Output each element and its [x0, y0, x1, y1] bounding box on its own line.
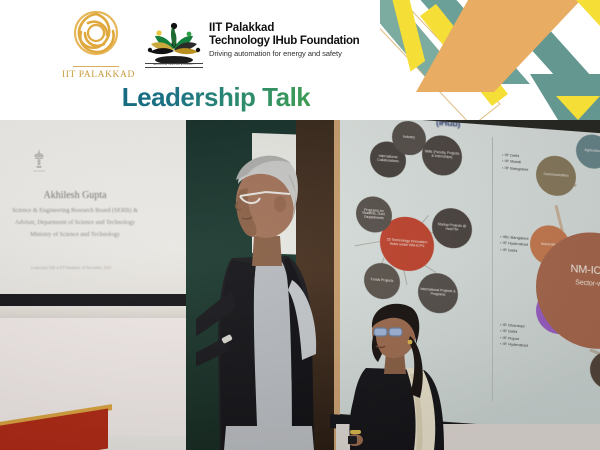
sector-node-agriculture: Agriculture	[576, 133, 600, 169]
slide-vertical-divider	[492, 137, 493, 401]
sector-node-communication: Communication	[536, 154, 576, 197]
ihub-foundation-logo-block: EDUCATE INNOVATE IMPACT IIT Palakkad Tec…	[143, 22, 403, 78]
ihub-tagline-strip-text: EDUCATE INNOVATE IMPACT	[146, 63, 202, 66]
diagram-bubble: Skills (Faculty, Projects & Internships)	[422, 134, 462, 177]
ihub-leaf-emblem-icon	[143, 22, 205, 64]
bullet-item: IIT Bangalore	[502, 165, 528, 173]
logo-divider-rule	[73, 66, 119, 67]
presenter-clicker-icon	[348, 436, 357, 444]
poster-header: IIT PALAKKAD	[0, 0, 600, 120]
diagram-link	[355, 241, 380, 246]
ihub-line-3: Driving automation for energy and safety	[209, 48, 409, 59]
diagram-bubble: Programs for Students, Govt. Departments	[356, 195, 392, 234]
bullet-list-1: IIT Delhi IIT Mandi IIT Bangalore	[502, 152, 528, 173]
event-photo: भारत सरकार Akhilesh Gupta Science & Engi…	[0, 118, 600, 450]
leadership-talk-poster: IIT PALAKKAD	[0, 0, 600, 450]
bullet-list-2: IISc Bangalore IIT Hyderabad IIT Delhi	[500, 234, 529, 255]
left-wall-ledge	[0, 306, 186, 318]
slide-subtitle-2: Adviser, Department of Science and Techn…	[0, 219, 160, 226]
slide-speaker-name: Akhilesh Gupta	[0, 190, 150, 201]
iit-palakkad-wordmark: IIT PALAKKAD	[62, 70, 130, 80]
ihub-line-1: IIT Palakkad	[209, 22, 409, 35]
diagram-bubble: Startup Projects @ Hub/TIH	[432, 207, 472, 250]
page-title: Leadership Talk	[0, 82, 600, 113]
sector-node-finance: Finance	[590, 350, 600, 391]
iit-palakkad-logo: IIT PALAKKAD	[62, 6, 130, 88]
india-government-emblem-icon: भारत सरकार	[32, 148, 46, 174]
bullet-item: IIT Hyderabad	[500, 341, 528, 349]
slide-footer-text: Leadership Talk at IIT Palakkad, 16 Dece…	[0, 266, 156, 270]
bullet-list-3: IIT Dhanbad IIT Delhi IIT Ropar IIT Hyde…	[500, 322, 528, 350]
left-screen-bottom-bar	[0, 294, 186, 306]
ihub-line-2: Technology IHub Foundation	[209, 35, 409, 48]
man-speaker	[196, 140, 328, 450]
slide-subtitle-1: Science & Engineering Research Board (SE…	[0, 207, 160, 214]
iit-palakkad-emblem-icon	[67, 6, 125, 61]
svg-text:भारत सरकार: भारत सरकार	[33, 170, 46, 173]
woman-speaker	[348, 298, 458, 450]
slide-subtitle-3: Ministry of Science and Technology	[0, 231, 160, 238]
page-title-text: Leadership Talk	[122, 82, 311, 112]
ihub-name-text: IIT Palakkad Technology IHub Foundation …	[209, 22, 409, 59]
